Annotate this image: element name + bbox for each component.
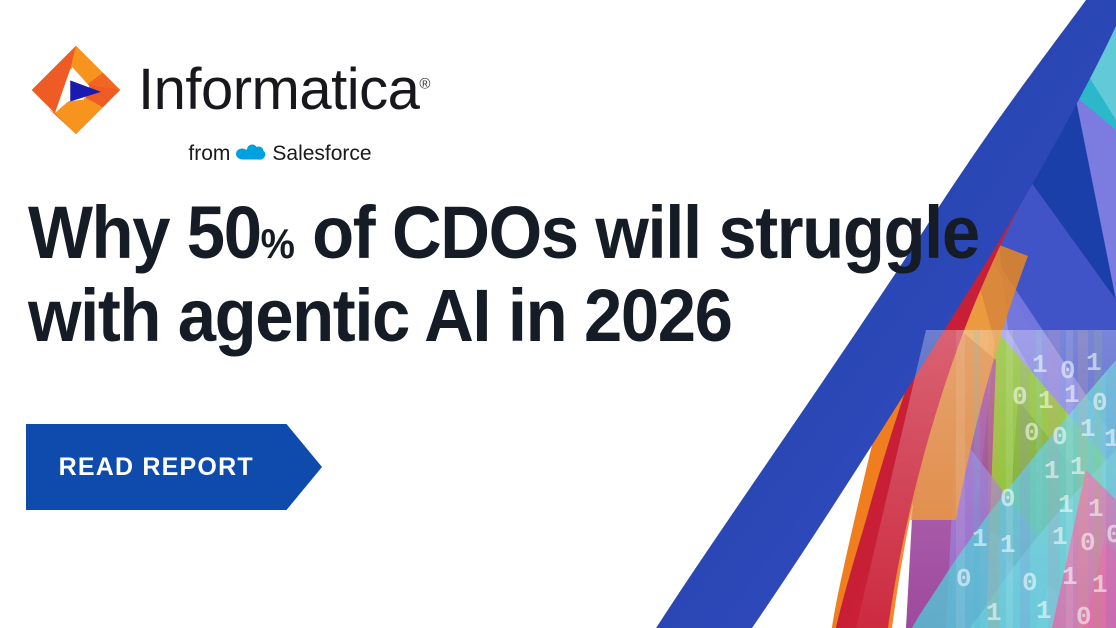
svg-text:1: 1 — [972, 524, 988, 554]
headline-line-2: with agentic AI in 2026 — [28, 275, 939, 358]
from-salesforce-line: from Salesforce — [132, 142, 428, 166]
salesforce-label: Salesforce — [272, 142, 371, 166]
svg-text:1: 1 — [1032, 350, 1048, 380]
svg-text:1: 1 — [1088, 494, 1104, 524]
svg-text:0: 0 — [1000, 484, 1016, 514]
svg-text:1: 1 — [1080, 414, 1096, 444]
svg-text:1: 1 — [1104, 424, 1116, 454]
from-label: from — [188, 142, 230, 166]
svg-text:0: 0 — [956, 564, 972, 594]
svg-text:0: 0 — [1060, 356, 1076, 386]
svg-text:1: 1 — [1036, 596, 1052, 626]
svg-text:0: 0 — [1022, 568, 1038, 598]
svg-text:0: 0 — [1106, 520, 1116, 550]
svg-text:0: 0 — [1092, 388, 1108, 418]
svg-text:1: 1 — [1044, 456, 1060, 486]
svg-text:1: 1 — [1062, 562, 1078, 592]
svg-text:1: 1 — [1064, 380, 1080, 410]
brand-logo: Informatica® from Salesforce — [28, 42, 428, 166]
page-title: Why 50% of CDOs will struggle with agent… — [28, 192, 939, 358]
svg-text:1: 1 — [1038, 386, 1054, 416]
svg-text:1: 1 — [1092, 570, 1108, 600]
informatica-wordmark: Informatica® — [138, 61, 430, 119]
wordmark-text: Informatica — [138, 57, 419, 122]
svg-text:1: 1 — [1052, 522, 1068, 552]
headline-line1-post: of CDOs will struggle — [294, 191, 978, 274]
informatica-ad-banner: 1 0 1 0 1 1 0 0 0 1 1 1 1 0 1 1 1 — [0, 0, 1116, 628]
salesforce-cloud-icon — [236, 143, 266, 165]
informatica-diamond-logo-icon — [28, 42, 124, 138]
svg-text:0: 0 — [1052, 422, 1068, 452]
svg-text:1: 1 — [1058, 490, 1074, 520]
registered-trademark-icon: ® — [419, 76, 430, 93]
svg-text:1: 1 — [1070, 452, 1086, 482]
svg-text:0: 0 — [1076, 602, 1092, 628]
svg-text:0: 0 — [1012, 382, 1028, 412]
svg-text:0: 0 — [1024, 418, 1040, 448]
svg-text:0: 0 — [1080, 528, 1096, 558]
headline-line-1: Why 50% of CDOs will struggle — [28, 192, 939, 275]
percent-symbol: % — [261, 220, 295, 267]
headline-line1-pre: Why 50 — [28, 191, 261, 274]
svg-text:1: 1 — [1000, 530, 1016, 560]
read-report-button[interactable]: READ REPORT — [26, 424, 322, 510]
svg-text:1: 1 — [1086, 348, 1102, 378]
read-report-label: READ REPORT — [26, 424, 286, 510]
svg-text:1: 1 — [986, 598, 1002, 628]
